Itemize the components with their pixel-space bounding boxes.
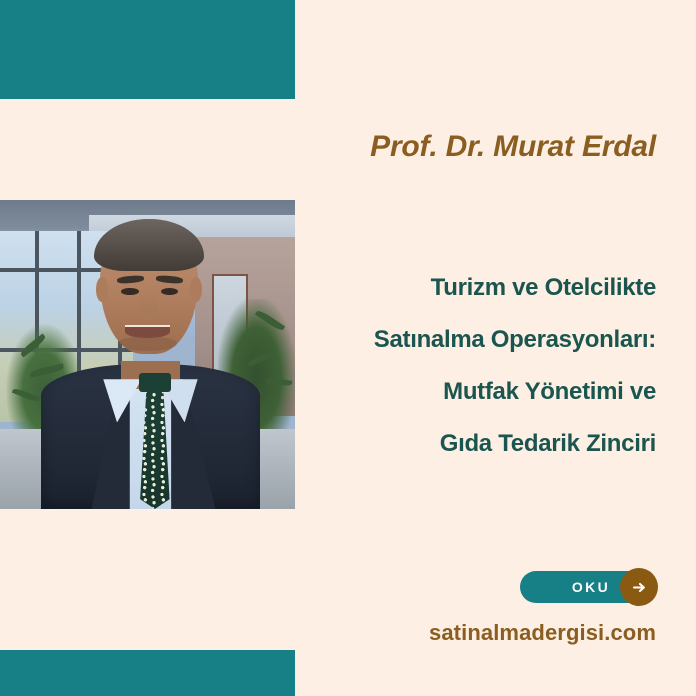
- figure-ear-left: [96, 277, 108, 302]
- portrait-photo: [0, 200, 295, 509]
- author-name: Prof. Dr. Murat Erdal: [236, 130, 656, 164]
- poster-canvas: Prof. Dr. Murat Erdal Turizm ve Otelcili…: [0, 0, 696, 696]
- arrow-right-icon[interactable]: [620, 568, 658, 606]
- headline-line-2: Satınalma Operasyonları:: [326, 314, 656, 366]
- decor-teal-block-top: [0, 0, 295, 99]
- headline-line-1: Turizm ve Otelcilikte: [326, 262, 656, 314]
- figure-tie-knot: [139, 373, 171, 392]
- figure-ear-right: [190, 277, 202, 302]
- photo-scene: [0, 200, 295, 509]
- website-url[interactable]: satinalmadergisi.com: [236, 620, 656, 646]
- decor-teal-block-bottom: [0, 650, 295, 696]
- headline-line-3: Mutfak Yönetimi ve: [326, 366, 656, 418]
- read-button[interactable]: OKU: [520, 571, 656, 603]
- figure-nose: [140, 294, 158, 319]
- headline: Turizm ve Otelcilikte Satınalma Operasyo…: [326, 262, 656, 470]
- headline-line-4: Gıda Tedarik Zinciri: [326, 418, 656, 470]
